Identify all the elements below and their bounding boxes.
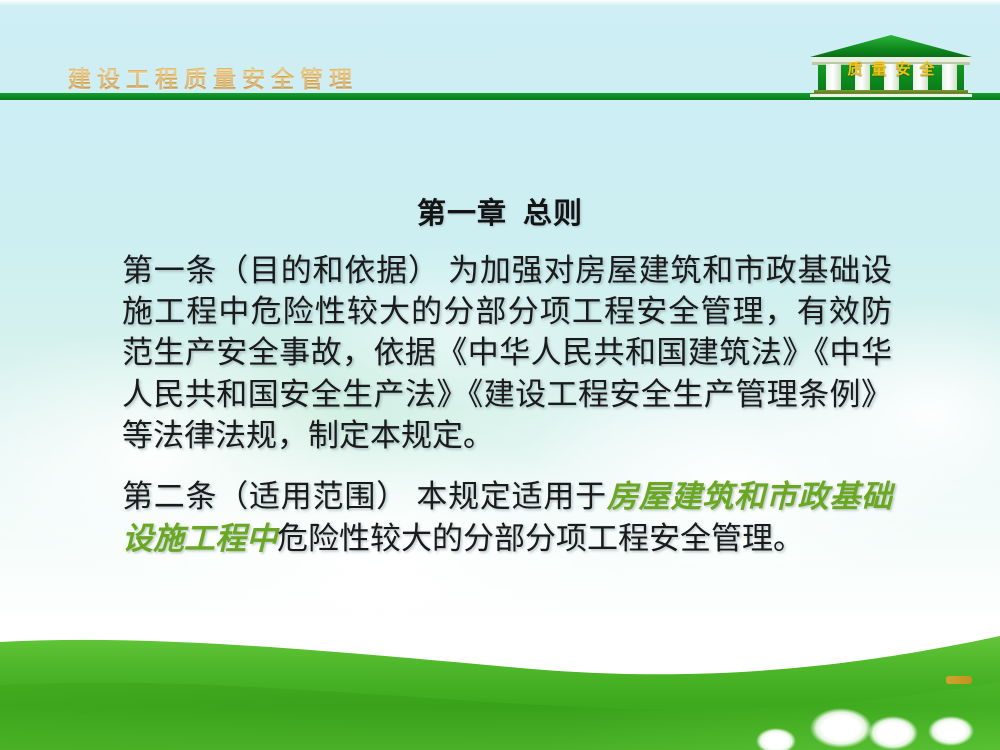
temple-building-icon: 质量安全 xyxy=(806,33,976,98)
sheep-shape xyxy=(868,716,918,750)
slide-canvas: 建设工程质量安全管理 xyxy=(0,0,1000,750)
article-2-text-lead: 第二条（适用范围） 本规定适用于 xyxy=(122,479,607,514)
sheep-shape xyxy=(810,708,872,748)
sheep-shape xyxy=(928,716,974,746)
article-1-text: 第一条（目的和依据） 为加强对房屋建筑和市政基础设施工程中危险性较大的分部分项工… xyxy=(122,253,892,453)
page-title: 建设工程质量安全管理 xyxy=(68,60,358,94)
article-paragraph: 第一条（目的和依据） 为加强对房屋建筑和市政基础设施工程中危险性较大的分部分项工… xyxy=(0,250,1000,456)
slide-content: 第一章总则 第一条（目的和依据） 为加强对房屋建筑和市政基础设施工程中危险性较大… xyxy=(0,190,1000,565)
grass-hill-decoration xyxy=(0,590,1000,750)
chapter-heading: 第一章总则 xyxy=(0,190,1000,232)
chapter-heading-suffix: 总则 xyxy=(523,196,583,230)
orange-accent-dot xyxy=(946,676,972,684)
article-2-text-tail: 危险性较大的分部分项工程安全管理。 xyxy=(277,521,804,556)
sheep-shape xyxy=(756,728,796,750)
article-paragraph: 第二条（适用范围） 本规定适用于房屋建筑和市政基础设施工程中危险性较大的分部分项… xyxy=(0,476,1000,560)
chapter-heading-prefix: 第一章 xyxy=(417,196,507,230)
